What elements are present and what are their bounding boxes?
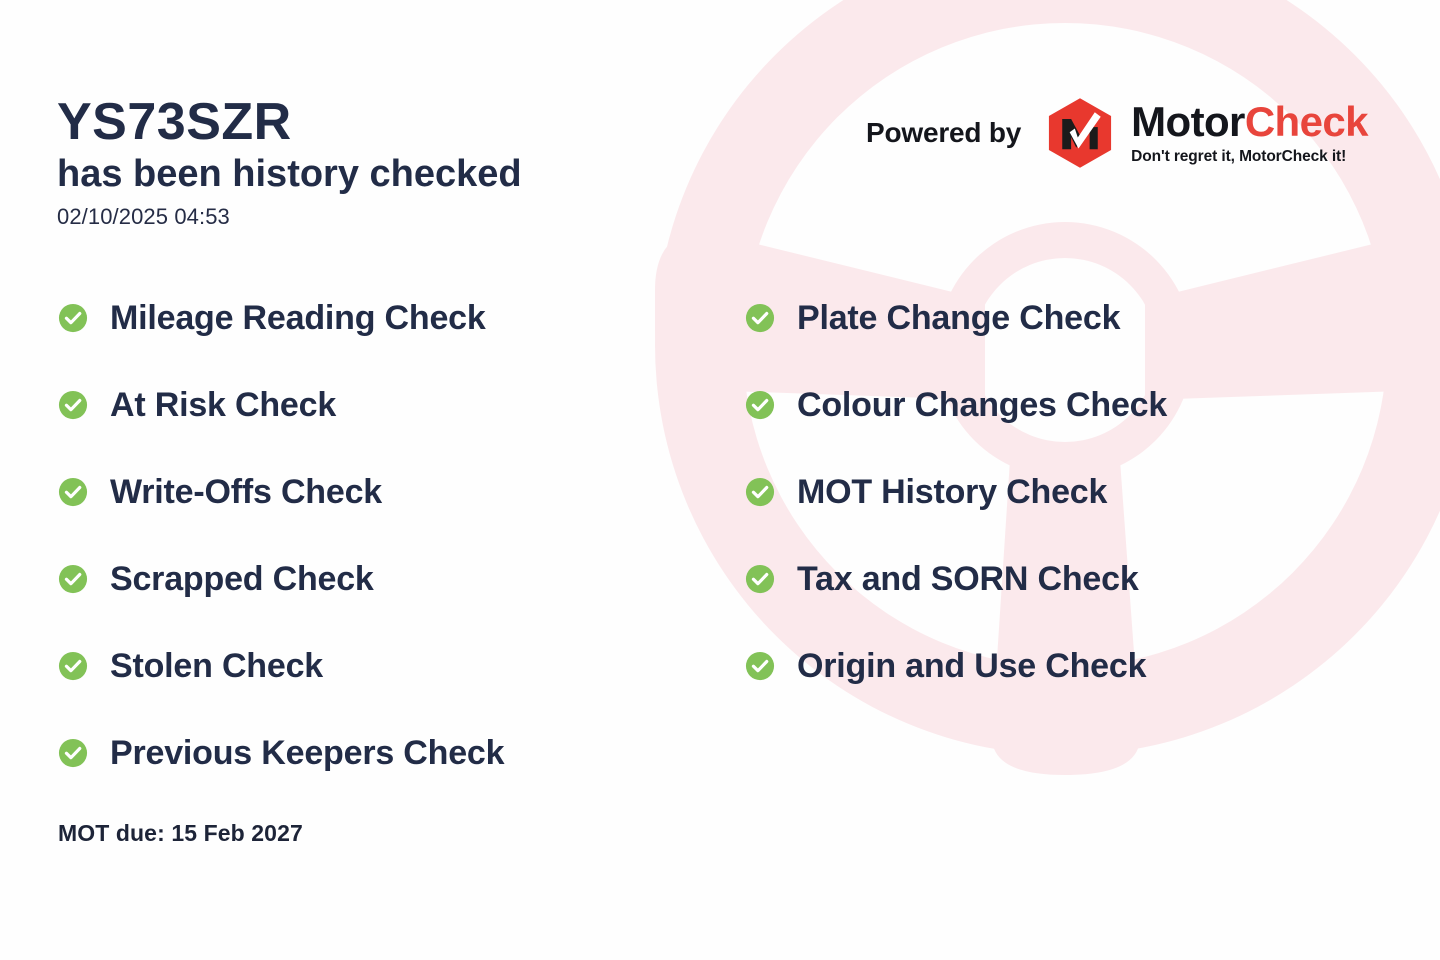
green-check-circle-icon xyxy=(58,651,88,681)
green-check-circle-icon xyxy=(58,477,88,507)
motorcheck-wordmark: MotorCheck Don't regret it, MotorCheck i… xyxy=(1131,101,1368,166)
check-item: Stolen Check xyxy=(58,640,504,692)
check-label: Plate Change Check xyxy=(797,301,1120,335)
check-label: Stolen Check xyxy=(110,649,323,683)
mot-due-label: MOT due: 15 Feb 2027 xyxy=(58,820,303,847)
check-label: Tax and SORN Check xyxy=(797,562,1139,596)
check-item: Scrapped Check xyxy=(58,553,504,605)
green-check-circle-icon xyxy=(58,564,88,594)
check-item: MOT History Check xyxy=(745,466,1167,518)
check-item: Origin and Use Check xyxy=(745,640,1167,692)
green-check-circle-icon xyxy=(58,303,88,333)
wordmark-check: Check xyxy=(1245,98,1368,145)
check-label: Previous Keepers Check xyxy=(110,736,504,770)
check-label: Mileage Reading Check xyxy=(110,301,486,335)
check-label: MOT History Check xyxy=(797,475,1107,509)
green-check-circle-icon xyxy=(745,564,775,594)
page-title: has been history checked xyxy=(57,153,522,197)
registration-plate: YS73SZR xyxy=(57,96,522,149)
check-item: Tax and SORN Check xyxy=(745,553,1167,605)
green-check-circle-icon xyxy=(745,390,775,420)
check-item: Previous Keepers Check xyxy=(58,727,504,779)
powered-by-brand-block: Powered by MotorCheck Don't regret it, M… xyxy=(866,96,1368,170)
check-label: Scrapped Check xyxy=(110,562,374,596)
result-header: YS73SZR has been history checked 02/10/2… xyxy=(57,96,522,230)
check-label: Colour Changes Check xyxy=(797,388,1167,422)
wordmark-motor: Motor xyxy=(1131,98,1245,145)
check-item: Write-Offs Check xyxy=(58,466,504,518)
history-check-result-page: YS73SZR has been history checked 02/10/2… xyxy=(0,0,1440,960)
checks-left-column: Mileage Reading Check At Risk Check Writ… xyxy=(58,292,504,814)
check-item: Mileage Reading Check xyxy=(58,292,504,344)
check-timestamp: 02/10/2025 04:53 xyxy=(57,204,522,230)
checks-right-column: Plate Change Check Colour Changes Check … xyxy=(745,292,1167,727)
check-item: Plate Change Check xyxy=(745,292,1167,344)
check-label: Origin and Use Check xyxy=(797,649,1146,683)
check-label: Write-Offs Check xyxy=(110,475,382,509)
green-check-circle-icon xyxy=(58,390,88,420)
brand-tagline: Don't regret it, MotorCheck it! xyxy=(1131,148,1368,166)
green-check-circle-icon xyxy=(745,303,775,333)
green-check-circle-icon xyxy=(745,477,775,507)
check-item: Colour Changes Check xyxy=(745,379,1167,431)
motorcheck-hexagon-icon xyxy=(1043,96,1117,170)
powered-by-label: Powered by xyxy=(866,117,1021,149)
green-check-circle-icon xyxy=(58,738,88,768)
green-check-circle-icon xyxy=(745,651,775,681)
check-item: At Risk Check xyxy=(58,379,504,431)
check-label: At Risk Check xyxy=(110,388,336,422)
